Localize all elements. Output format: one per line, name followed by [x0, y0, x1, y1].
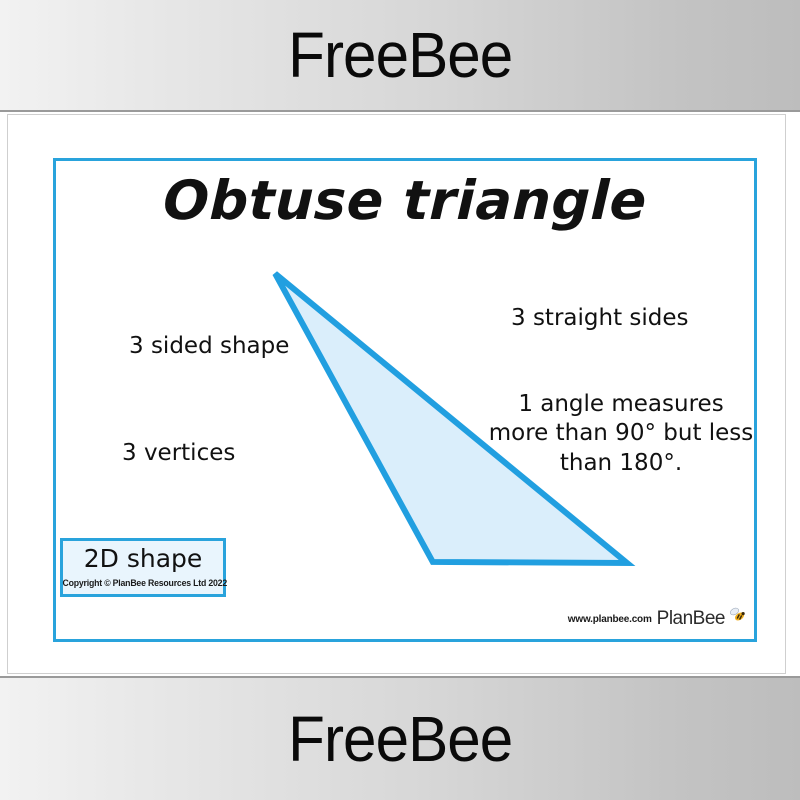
fact-straight-sides: 3 straight sides [511, 304, 689, 333]
bottom-freebee-banner: FreeBee [0, 676, 800, 800]
fact-sided-shape: 3 sided shape [129, 332, 289, 361]
planbee-url-text: www.planbee.com [568, 614, 652, 625]
fact-vertices: 3 vertices [122, 439, 235, 468]
planbee-wordmark-text: PlanBee [657, 608, 725, 630]
shape-category-label: 2D shape [63, 543, 223, 574]
bee-icon [728, 607, 746, 623]
fact-angle-measure: 1 angle measures more than 90° but less … [486, 390, 756, 478]
bottom-freebee-label: FreeBee [288, 707, 512, 771]
page-title: Obtuse triangle [55, 173, 755, 230]
shape-category-tag: 2D shape [60, 538, 226, 597]
copyright-notice: Copyright © PlanBee Resources Ltd 2022 [62, 578, 223, 588]
poster-card: Obtuse triangle 3 sided shape 3 vertices… [7, 114, 786, 674]
top-freebee-label: FreeBee [288, 23, 512, 87]
page-root: FreeBee Obtuse triangle 3 sided shape 3 … [0, 0, 800, 800]
planbee-logo: www.planbee.com PlanBee [568, 608, 746, 630]
top-freebee-banner: FreeBee [0, 0, 800, 112]
poster-blue-frame: Obtuse triangle 3 sided shape 3 vertices… [53, 158, 757, 642]
